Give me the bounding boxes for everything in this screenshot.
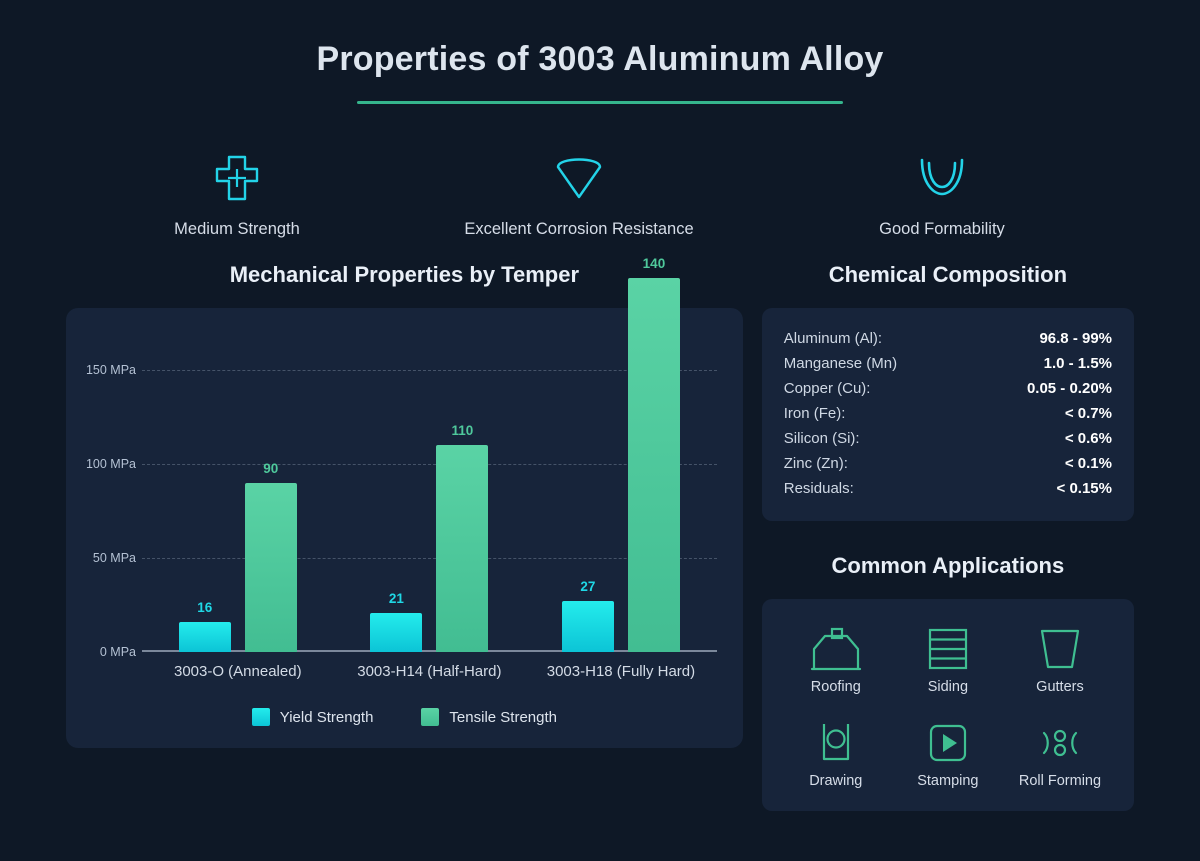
bar-groups: 16 90 21 110 xyxy=(142,330,717,652)
application-label: Stamping xyxy=(892,773,1004,789)
composition-row: Iron (Fe): < 0.7% xyxy=(784,401,1112,426)
composition-row: Copper (Cu): 0.05 - 0.20% xyxy=(784,376,1112,401)
siding-slats-icon xyxy=(892,625,1004,671)
bar-value-label: 16 xyxy=(197,600,212,615)
application-roll-forming[interactable]: Roll Forming xyxy=(1004,719,1116,789)
chart-plot-area: 150 MPa 100 MPa 50 MPa 0 MPa 16 90 xyxy=(84,330,725,652)
bar-value-label: 110 xyxy=(451,423,473,438)
bar-yield-3003-h14[interactable]: 21 xyxy=(370,613,422,652)
composition-element-value: < 0.6% xyxy=(1065,430,1112,447)
right-column: Chemical Composition Aluminum (Al): 96.8… xyxy=(762,262,1134,811)
page-header: Properties of 3003 Aluminum Alloy xyxy=(0,0,1200,104)
y-tick-label: 150 MPa xyxy=(84,363,136,377)
chart-legend: Yield Strength Tensile Strength xyxy=(66,708,743,726)
application-label: Siding xyxy=(892,679,1004,695)
composition-heading: Chemical Composition xyxy=(762,262,1134,288)
corrosion-droplet-shield-icon xyxy=(408,150,750,206)
y-tick-label: 0 MPa xyxy=(84,645,136,659)
legend-swatch-icon xyxy=(252,708,270,726)
composition-element-name: Manganese (Mn) xyxy=(784,355,897,372)
y-tick-label: 100 MPa xyxy=(84,457,136,471)
composition-row: Aluminum (Al): 96.8 - 99% xyxy=(784,326,1112,351)
composition-row: Silicon (Si): < 0.6% xyxy=(784,426,1112,451)
legend-label: Tensile Strength xyxy=(449,709,557,726)
application-drawing[interactable]: Drawing xyxy=(780,719,892,789)
roll-forming-rollers-icon xyxy=(1004,719,1116,765)
composition-element-value: 96.8 - 99% xyxy=(1039,330,1112,347)
bar-tensile-3003-o[interactable]: 90 xyxy=(245,483,297,652)
bar-yield-3003-o[interactable]: 16 xyxy=(179,622,231,652)
chemical-composition-card: Aluminum (Al): 96.8 - 99% Manganese (Mn)… xyxy=(762,308,1134,521)
bar-value-label: 90 xyxy=(263,461,278,476)
application-label: Gutters xyxy=(1004,679,1116,695)
composition-element-value: 0.05 - 0.20% xyxy=(1027,380,1112,397)
feature-good-formability: Good Formability xyxy=(750,150,1134,239)
composition-element-name: Iron (Fe): xyxy=(784,405,846,422)
x-axis-category-labels: 3003-O (Annealed) 3003-H14 (Half-Hard) 3… xyxy=(142,663,717,680)
composition-element-name: Copper (Cu): xyxy=(784,380,871,397)
composition-row: Residuals: < 0.15% xyxy=(784,476,1112,501)
y-tick-label: 50 MPa xyxy=(84,551,136,565)
x-tick-label: 3003-O (Annealed) xyxy=(142,663,334,680)
deep-draw-cup-icon xyxy=(780,719,892,765)
legend-label: Yield Strength xyxy=(280,709,374,726)
application-label: Roofing xyxy=(780,679,892,695)
composition-element-name: Silicon (Si): xyxy=(784,430,860,447)
x-tick-label: 3003-H14 (Half-Hard) xyxy=(334,663,526,680)
composition-element-value: < 0.7% xyxy=(1065,405,1112,422)
feature-label: Good Formability xyxy=(750,220,1134,239)
feature-corrosion-resistance: Excellent Corrosion Resistance xyxy=(408,150,750,239)
bar-yield-3003-h18[interactable]: 27 xyxy=(562,601,614,652)
bar-group-3003-h14: 21 110 xyxy=(334,330,526,652)
mechanical-properties-section: Mechanical Properties by Temper 150 MPa … xyxy=(66,262,743,811)
application-label: Roll Forming xyxy=(1004,773,1116,789)
application-stamping[interactable]: Stamping xyxy=(892,719,1004,789)
composition-element-name: Zinc (Zn): xyxy=(784,455,848,472)
legend-item-yield-strength[interactable]: Yield Strength xyxy=(252,708,374,726)
bar-tensile-3003-h18[interactable]: 140 xyxy=(628,278,680,652)
feature-medium-strength: Medium Strength xyxy=(66,150,408,239)
feature-highlights-row: Medium Strength Excellent Corrosion Resi… xyxy=(66,150,1134,239)
title-underline-divider xyxy=(357,101,843,104)
composition-element-value: < 0.15% xyxy=(1057,480,1112,497)
formability-bend-curves-icon xyxy=(750,150,1134,206)
application-siding[interactable]: Siding xyxy=(892,625,1004,695)
bar-group-3003-h18: 27 140 xyxy=(525,330,717,652)
application-gutters[interactable]: Gutters xyxy=(1004,625,1116,695)
composition-element-value: 1.0 - 1.5% xyxy=(1044,355,1112,372)
legend-item-tensile-strength[interactable]: Tensile Strength xyxy=(421,708,557,726)
application-label: Drawing xyxy=(780,773,892,789)
strength-shield-plus-icon xyxy=(66,150,408,206)
composition-row: Zinc (Zn): < 0.1% xyxy=(784,451,1112,476)
page-title: Properties of 3003 Aluminum Alloy xyxy=(0,40,1200,79)
gutter-trapezoid-icon xyxy=(1004,625,1116,671)
application-roofing[interactable]: Roofing xyxy=(780,625,892,695)
bar-value-label: 21 xyxy=(389,591,404,606)
composition-element-name: Residuals: xyxy=(784,480,854,497)
common-applications-card: Roofing Siding xyxy=(762,599,1134,811)
bar-tensile-3003-h14[interactable]: 110 xyxy=(436,445,488,652)
bar-value-label: 140 xyxy=(643,256,666,271)
composition-element-value: < 0.1% xyxy=(1065,455,1112,472)
feature-label: Excellent Corrosion Resistance xyxy=(408,220,750,239)
bar-value-label: 27 xyxy=(580,579,595,594)
stamping-press-icon xyxy=(892,719,1004,765)
legend-swatch-icon xyxy=(421,708,439,726)
bar-chart-card: 150 MPa 100 MPa 50 MPa 0 MPa 16 90 xyxy=(66,308,743,748)
composition-element-name: Aluminum (Al): xyxy=(784,330,882,347)
feature-label: Medium Strength xyxy=(66,220,408,239)
bar-group-3003-o: 16 90 xyxy=(142,330,334,652)
house-roof-icon xyxy=(780,625,892,671)
x-tick-label: 3003-H18 (Fully Hard) xyxy=(525,663,717,680)
applications-heading: Common Applications xyxy=(762,553,1134,579)
composition-row: Manganese (Mn) 1.0 - 1.5% xyxy=(784,351,1112,376)
